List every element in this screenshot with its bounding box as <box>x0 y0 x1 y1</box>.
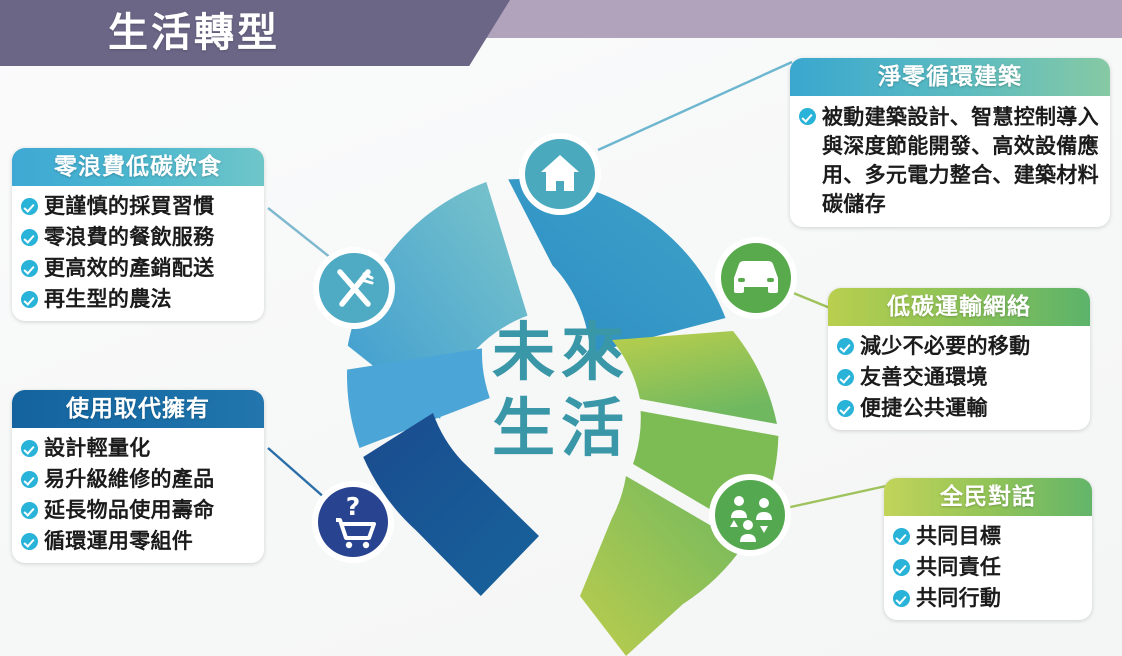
check-icon <box>21 229 38 246</box>
check-icon <box>893 590 910 607</box>
list-item-label: 延長物品使用壽命 <box>44 497 214 524</box>
list-item[interactable]: 被動建築設計、智慧控制導入與深度節能開發、高效設備應用、多元電力整合、建築材料碳… <box>799 103 1102 219</box>
list-item[interactable]: 循環運用零組件 <box>21 528 256 555</box>
list-item[interactable]: 減少不必要的移動 <box>837 333 1082 360</box>
list-item[interactable]: 更謹慎的採買習慣 <box>21 193 256 220</box>
check-icon <box>21 502 38 519</box>
check-icon <box>837 400 854 417</box>
check-icon <box>21 533 38 550</box>
panel-transport-title: 低碳運輸網絡 <box>828 288 1090 326</box>
list-item[interactable]: 更高效的產銷配送 <box>21 255 256 282</box>
icon-bubble-food[interactable] <box>313 247 395 329</box>
panel-dialogue-title: 全民對話 <box>884 478 1092 516</box>
panel-ownership-title: 使用取代擁有 <box>12 390 264 428</box>
icon-bubble-transport[interactable] <box>715 237 797 319</box>
list-item[interactable]: 友善交通環境 <box>837 364 1082 391</box>
check-icon <box>837 338 854 355</box>
list-item-label: 更高效的產銷配送 <box>44 255 214 282</box>
panel-transport-body: 減少不必要的移動 友善交通環境 便捷公共運輸 <box>828 326 1090 430</box>
list-item-label: 共同責任 <box>916 554 1001 581</box>
panel-dialogue[interactable]: 全民對話 共同目標 共同責任 共同行動 <box>884 478 1092 620</box>
ring-segment-transport-upper <box>612 331 777 424</box>
icon-bubble-ownership[interactable]: ? <box>312 481 394 563</box>
list-item-label: 更謹慎的採買習慣 <box>44 193 214 220</box>
check-icon <box>799 108 816 125</box>
list-item-label: 便捷公共運輸 <box>860 395 988 422</box>
panel-building[interactable]: 淨零循環建築 被動建築設計、智慧控制導入與深度節能開發、高效設備應用、多元電力整… <box>790 58 1110 227</box>
list-item-label: 被動建築設計、智慧控制導入與深度節能開發、高效設備應用、多元電力整合、建築材料碳… <box>822 103 1102 219</box>
list-item-label: 循環運用零組件 <box>44 528 193 555</box>
list-item-label: 共同目標 <box>916 523 1001 550</box>
list-item[interactable]: 設計輕量化 <box>21 435 256 462</box>
list-item[interactable]: 共同責任 <box>893 554 1084 581</box>
panel-transport[interactable]: 低碳運輸網絡 減少不必要的移動 友善交通環境 便捷公共運輸 <box>828 288 1090 430</box>
panel-ownership[interactable]: 使用取代擁有 設計輕量化 易升級維修的產品 延長物品使用壽命 循環運用零組件 <box>12 390 264 563</box>
panel-building-title: 淨零循環建築 <box>790 58 1110 96</box>
icon-bubble-home[interactable] <box>519 133 601 215</box>
check-icon <box>21 260 38 277</box>
panel-dialogue-body: 共同目標 共同責任 共同行動 <box>884 516 1092 620</box>
list-item[interactable]: 零浪費的餐飲服務 <box>21 224 256 251</box>
check-icon <box>893 528 910 545</box>
page-title: 生活轉型 <box>108 6 280 60</box>
infographic-canvas: 生活轉型 <box>0 0 1122 656</box>
svg-text:?: ? <box>346 492 361 521</box>
list-item-label: 友善交通環境 <box>860 364 988 391</box>
future-life-donut: ? <box>296 126 826 656</box>
check-icon <box>21 440 38 457</box>
list-item[interactable]: 共同目標 <box>893 523 1084 550</box>
list-item-label: 易升級維修的產品 <box>44 466 214 493</box>
check-icon <box>837 369 854 386</box>
panel-building-body: 被動建築設計、智慧控制導入與深度節能開發、高效設備應用、多元電力整合、建築材料碳… <box>790 96 1110 227</box>
list-item-label: 減少不必要的移動 <box>860 333 1030 360</box>
list-item-label: 共同行動 <box>916 585 1001 612</box>
list-item[interactable]: 延長物品使用壽命 <box>21 497 256 524</box>
panel-food-title: 零浪費低碳飲食 <box>12 148 264 186</box>
check-icon <box>21 291 38 308</box>
panel-food-body: 更謹慎的採買習慣 零浪費的餐飲服務 更高效的產銷配送 再生型的農法 <box>12 186 264 321</box>
check-icon <box>21 198 38 215</box>
icon-bubble-dialogue[interactable] <box>709 474 791 556</box>
panel-ownership-body: 設計輕量化 易升級維修的產品 延長物品使用壽命 循環運用零組件 <box>12 428 264 563</box>
list-item[interactable]: 便捷公共運輸 <box>837 395 1082 422</box>
list-item-label: 設計輕量化 <box>44 435 151 462</box>
list-item[interactable]: 共同行動 <box>893 585 1084 612</box>
banner-accent-stripe <box>445 0 1122 38</box>
list-item-label: 再生型的農法 <box>44 286 172 313</box>
list-item[interactable]: 再生型的農法 <box>21 286 256 313</box>
list-item-label: 零浪費的餐飲服務 <box>44 224 214 251</box>
list-item[interactable]: 易升級維修的產品 <box>21 466 256 493</box>
check-icon <box>893 559 910 576</box>
check-icon <box>21 471 38 488</box>
panel-food[interactable]: 零浪費低碳飲食 更謹慎的採買習慣 零浪費的餐飲服務 更高效的產銷配送 再生型的農… <box>12 148 264 321</box>
